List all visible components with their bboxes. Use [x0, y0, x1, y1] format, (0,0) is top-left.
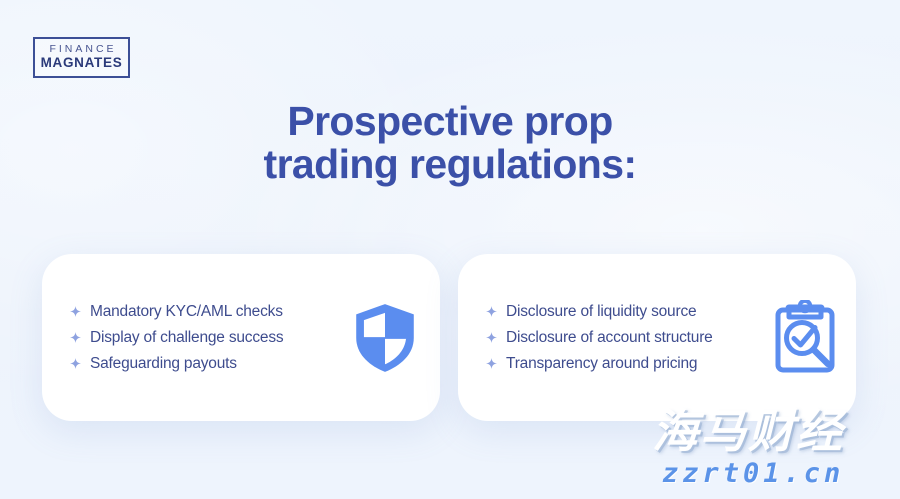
- clipboard-check-magnifier-icon: [768, 298, 842, 378]
- regulation-card-left: Mandatory KYC/AML checks Display of chal…: [42, 254, 440, 421]
- list-item-label: Mandatory KYC/AML checks: [90, 303, 283, 320]
- sparkle-icon: [486, 304, 497, 315]
- sparkle-icon: [70, 304, 81, 315]
- list-item: Display of challenge success: [70, 329, 342, 346]
- regulation-card-right: Disclosure of liquidity source Disclosur…: [458, 254, 856, 421]
- list-item: Transparency around pricing: [486, 355, 764, 372]
- brand-logo-top-text: FINANCE: [46, 44, 116, 55]
- list-item: Safeguarding payouts: [70, 355, 342, 372]
- bullet-list-left: Mandatory KYC/AML checks Display of chal…: [70, 303, 342, 372]
- brand-logo-bottom-text: MAGNATES: [41, 55, 123, 71]
- background-tint: [0, 0, 900, 499]
- page-title: Prospective prop trading regulations:: [0, 100, 900, 185]
- watermark-domain-text: zzrt01.cn: [662, 460, 844, 487]
- list-item-label: Transparency around pricing: [506, 355, 697, 372]
- sparkle-icon: [70, 330, 81, 341]
- list-item: Disclosure of account structure: [486, 329, 764, 346]
- list-item-label: Safeguarding payouts: [90, 355, 237, 372]
- list-item-label: Disclosure of account structure: [506, 329, 713, 346]
- list-item-label: Disclosure of liquidity source: [506, 303, 696, 320]
- shield-icon: [348, 298, 422, 378]
- watermark: 海马财经 zzrt01.cn: [648, 408, 896, 496]
- slide-canvas: FINANCE MAGNATES Prospective prop tradin…: [0, 0, 900, 499]
- background-wave-decoration: [0, 0, 900, 499]
- bullet-list-right: Disclosure of liquidity source Disclosur…: [486, 303, 764, 372]
- sparkle-icon: [486, 330, 497, 341]
- brand-logo[interactable]: FINANCE MAGNATES: [33, 37, 130, 78]
- page-title-line-1: Prospective prop: [0, 100, 900, 143]
- sparkle-icon: [70, 356, 81, 367]
- wave-lines-svg: [0, 0, 900, 499]
- list-item: Disclosure of liquidity source: [486, 303, 764, 320]
- page-title-line-2: trading regulations:: [0, 143, 900, 186]
- list-item-label: Display of challenge success: [90, 329, 283, 346]
- sparkle-icon: [486, 356, 497, 367]
- list-item: Mandatory KYC/AML checks: [70, 303, 342, 320]
